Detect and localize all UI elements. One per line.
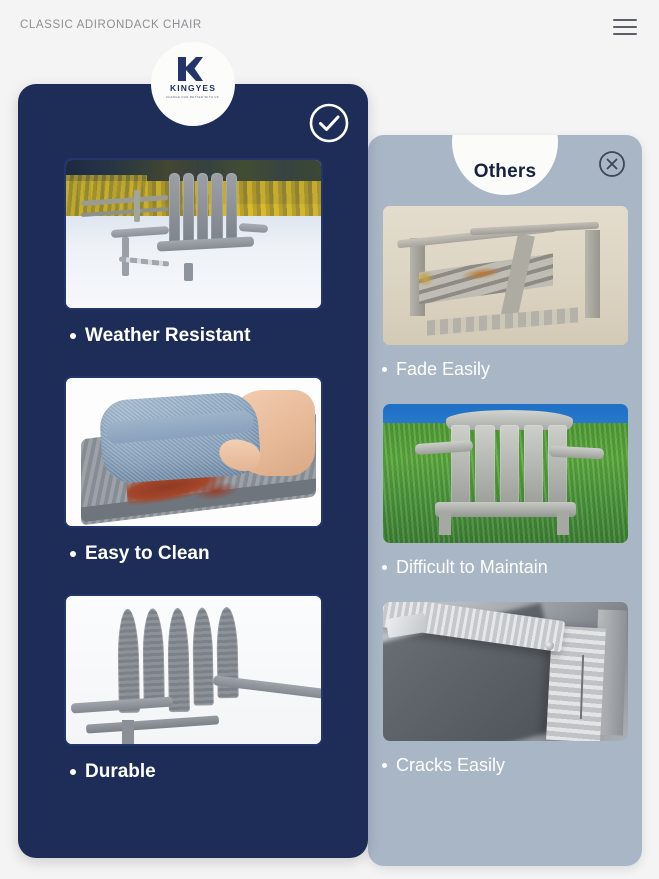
- difficult-to-maintain-image: [383, 404, 628, 543]
- others-feature-item: Cracks Easily: [368, 602, 642, 789]
- fade-easily-label: Fade Easily: [368, 345, 642, 393]
- cracks-easily-label: Cracks Easily: [368, 741, 642, 789]
- weather-resistant-label: Weather Resistant: [18, 310, 368, 362]
- others-feature-item: Difficult to Maintain: [368, 404, 642, 591]
- easy-to-clean-image: [64, 376, 323, 528]
- bullet-icon: [70, 769, 76, 775]
- kingyes-tagline: CHANGE OUR BETTER WITH US: [166, 95, 219, 99]
- kingyes-feature-item: Durable: [18, 594, 368, 798]
- hamburger-bar: [613, 19, 637, 21]
- kingyes-feature-item: Weather Resistant: [18, 158, 368, 362]
- others-feature-item: Fade Easily: [368, 206, 642, 393]
- kingyes-feature-list: Weather Resistant: [18, 158, 368, 812]
- bullet-icon: [382, 565, 387, 570]
- feature-label-text: Weather Resistant: [85, 325, 250, 347]
- durable-label: Durable: [18, 746, 368, 798]
- easy-to-clean-label: Easy to Clean: [18, 528, 368, 580]
- kingyes-brand-text: KINGYES: [170, 83, 216, 93]
- others-badge: Others: [452, 135, 558, 195]
- difficult-to-maintain-label: Difficult to Maintain: [368, 543, 642, 591]
- feature-label-text: Difficult to Maintain: [396, 557, 548, 578]
- feature-label-text: Durable: [85, 761, 156, 783]
- fade-easily-image: [383, 206, 628, 345]
- kingyes-logo-badge: KINGYES CHANGE OUR BETTER WITH US: [151, 42, 235, 126]
- page-header: CLASSIC ADIRONDACK CHAIR: [0, 0, 659, 56]
- durable-image: [64, 594, 323, 746]
- bullet-icon: [382, 763, 387, 768]
- kingyes-feature-item: Easy to Clean: [18, 376, 368, 580]
- kingyes-k-logo-icon: [176, 56, 210, 82]
- page-title: CLASSIC ADIRONDACK CHAIR: [20, 19, 202, 31]
- bullet-icon: [70, 551, 76, 557]
- comparison-stage: Others: [0, 56, 659, 846]
- feature-label-text: Easy to Clean: [85, 543, 210, 565]
- cracks-easily-image: [383, 602, 628, 741]
- kingyes-card: KINGYES CHANGE OUR BETTER WITH US: [18, 84, 368, 858]
- hamburger-bar: [613, 26, 637, 28]
- feature-label-text: Cracks Easily: [396, 755, 505, 776]
- others-feature-list: Fade Easily: [368, 206, 642, 800]
- others-title: Others: [474, 161, 536, 183]
- bullet-icon: [70, 333, 76, 339]
- bullet-icon: [382, 367, 387, 372]
- feature-label-text: Fade Easily: [396, 359, 490, 380]
- hamburger-menu-icon[interactable]: [613, 19, 637, 35]
- others-card: Others: [368, 135, 642, 866]
- hamburger-bar: [613, 33, 637, 35]
- close-circle-icon[interactable]: [598, 150, 626, 178]
- weather-resistant-image: [64, 158, 323, 310]
- product-comparison-page: CLASSIC ADIRONDACK CHAIR Others: [0, 0, 659, 879]
- check-circle-icon[interactable]: [308, 102, 350, 144]
